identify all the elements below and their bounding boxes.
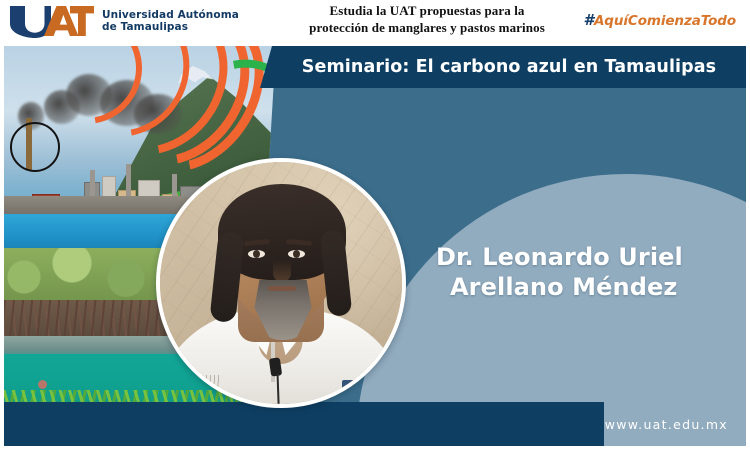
portrait-eye-right [288, 250, 305, 258]
marker-dot [38, 380, 47, 389]
seminar-title-text: Seminario: El carbono azul en Tamaulipas [302, 57, 716, 77]
news-headline: Estudia la UAT propuestas para la protec… [268, 2, 586, 36]
brand-block: Universidad Autónoma de Tamaulipas [8, 4, 239, 38]
hash-icon: # [584, 11, 594, 29]
lapel-microphone-icon [269, 357, 282, 376]
seminar-banner: Seminario: El carbono azul en Tamaulipas… [4, 46, 746, 446]
portrait-eye-left [248, 250, 265, 258]
presentation-slide: Universidad Autónoma de Tamaulipas Estud… [0, 0, 750, 450]
speaker-avatar [156, 158, 406, 408]
hashtag-text: AquíComienzaTodo [594, 13, 736, 29]
headline-line-1: Estudia la UAT propuestas para la [268, 2, 586, 19]
site-header: Universidad Autónoma de Tamaulipas Estud… [0, 0, 750, 46]
shirt-logo-badge [342, 380, 368, 394]
speaker-name-line-2: Arellano Méndez [436, 272, 683, 302]
institution-line-2: de Tamaulipas [102, 21, 239, 33]
target-ring-icon [10, 122, 60, 172]
website-url[interactable]: www.uat.edu.mx [605, 416, 728, 434]
portrait-nose [273, 260, 291, 282]
institution-name: Universidad Autónoma de Tamaulipas [102, 9, 239, 34]
seminar-title: Seminario: El carbono azul en Tamaulipas [272, 46, 746, 88]
shirt-embroidery [186, 375, 220, 388]
portrait-mouth [268, 286, 296, 291]
website-url-text: www.uat.edu.mx [605, 417, 728, 432]
campaign-hashtag: # AquíComienzaTodo [584, 12, 736, 30]
speaker-name-line-1: Dr. Leonardo Uriel [436, 242, 683, 272]
speaker-name: Dr. Leonardo Uriel Arellano Méndez [436, 242, 683, 302]
institution-line-1: Universidad Autónoma [102, 9, 239, 21]
uat-logo-icon [8, 4, 94, 38]
headline-line-2: protección de manglares y pastos marinos [268, 19, 586, 36]
